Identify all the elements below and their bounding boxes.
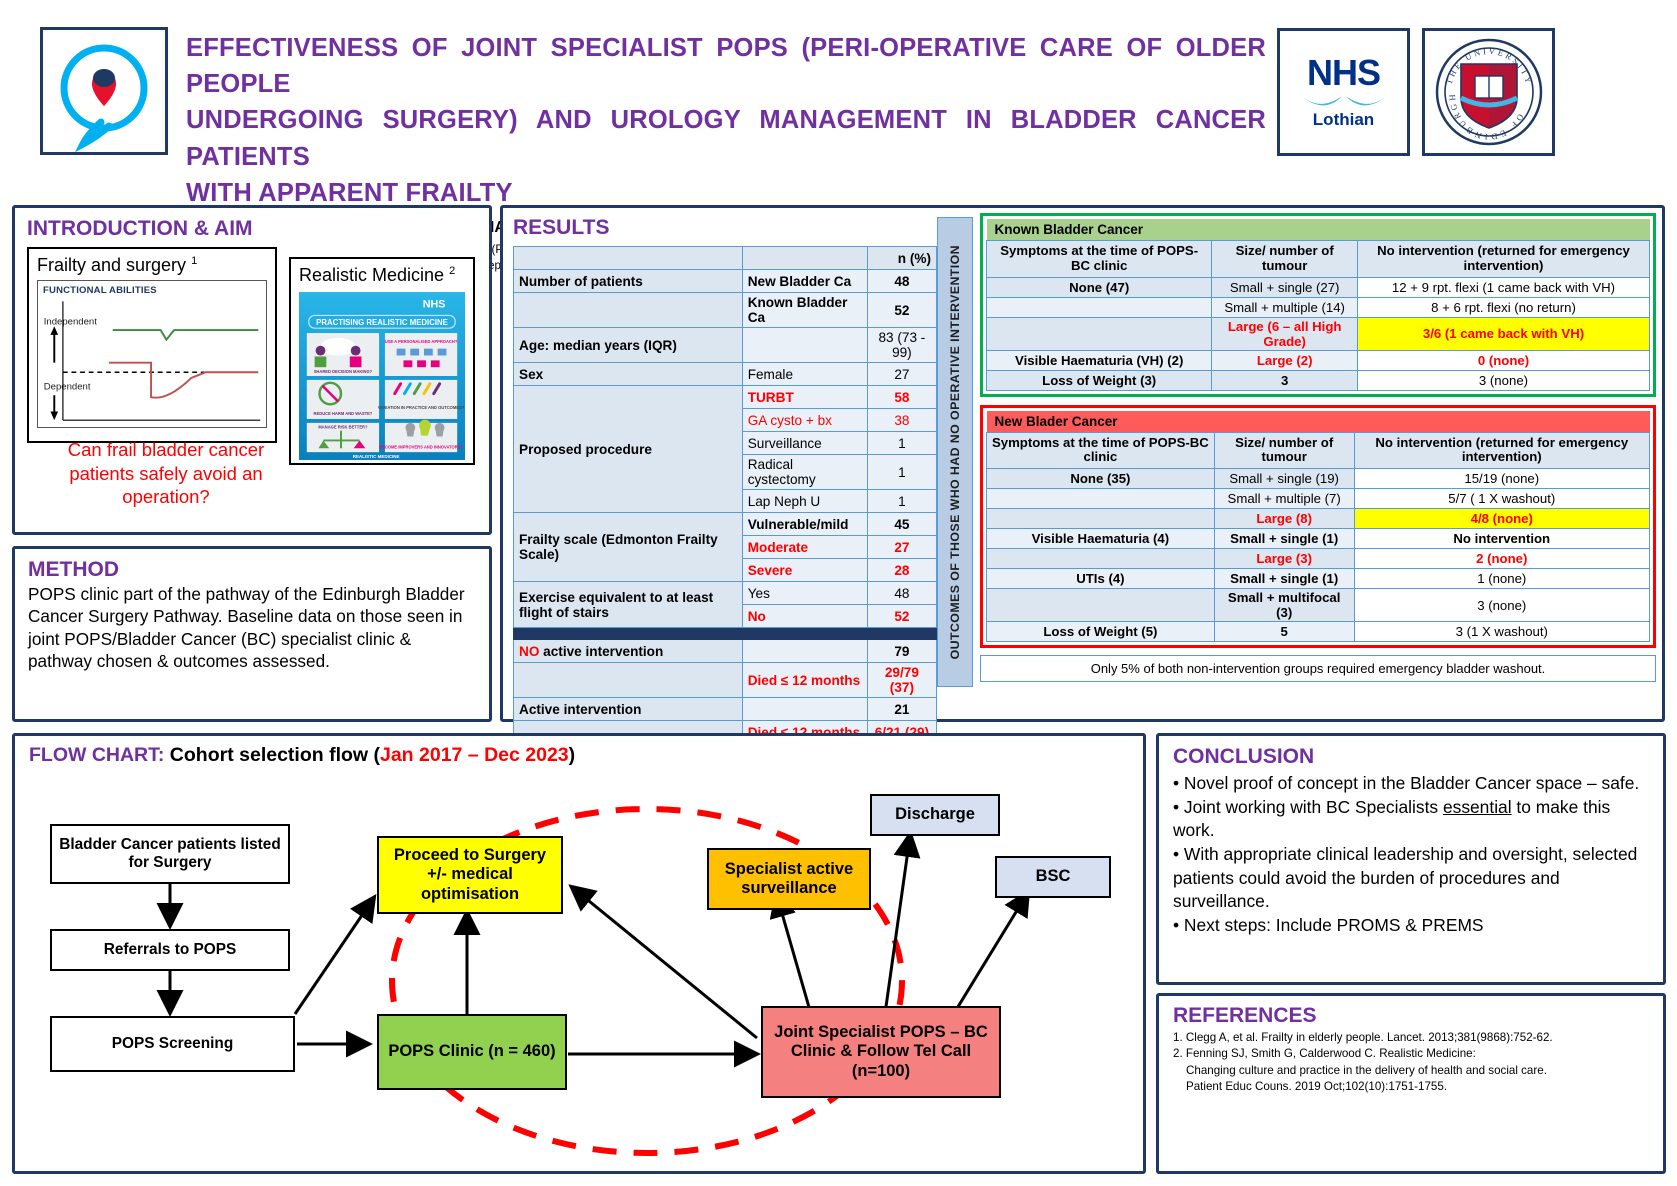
cell-outcome: 15/19 (none) [1354, 469, 1649, 489]
column-header: Symptoms at the time of POPS-BC clinic [987, 432, 1215, 469]
banner-label: New Blader Cancer [987, 411, 1650, 433]
table-row: Visible Haematuria (4)Small + single (1)… [987, 529, 1650, 549]
cell-subcategory: Yes [742, 582, 867, 605]
cell-blank [742, 247, 867, 270]
functional-abilities-title: FUNCTIONAL ABILITIES [43, 285, 157, 296]
cell-category: Exercise equivalent to at least flight o… [514, 582, 743, 628]
table-row: Small + multiple (14)8 + 6 rpt. flexi (n… [987, 297, 1650, 317]
page-title: EFFECTIVENESS OF JOINT SPECIALIST POPS (… [186, 30, 1266, 211]
cell-subcategory [742, 698, 867, 721]
column-header: Symptoms at the time of POPS-BC clinic [987, 241, 1212, 278]
svg-text:REDUCE HARM AND WASTE?: REDUCE HARM AND WASTE? [314, 411, 373, 416]
flow-chart-panel: FLOW CHART: Cohort selection flow (Jan 2… [12, 733, 1146, 1174]
column-header: No intervention (returned for emergency … [1354, 432, 1649, 469]
chart-top-label: Independent [44, 316, 98, 327]
nhs-logo-word: NHS [1307, 55, 1380, 91]
cell-value: 21 [867, 698, 936, 721]
table-header-row: Symptoms at the time of POPS-BC clinicSi… [987, 432, 1650, 469]
flow-box-label: BSC [1036, 867, 1071, 886]
known-bladder-cancer-table: Known Bladder CancerSymptoms at the time… [986, 219, 1650, 391]
cell-symptoms: Loss of Weight (5) [987, 622, 1215, 642]
nhs-logo-sub: Lothian [1313, 110, 1374, 130]
reference-item: Changing culture and practice in the del… [1173, 1063, 1649, 1079]
cell-symptoms: Visible Haematuria (VH) (2) [987, 350, 1212, 370]
table-row: Small + multiple (7)5/7 ( 1 X washout) [987, 489, 1650, 509]
outcomes-vertical-label: OUTCOMES OF THOSE WHO HAD NO OPERATIVE I… [937, 217, 973, 687]
cell-subcategory: Severe [742, 559, 867, 582]
cell-outcome: 3 (none) [1357, 370, 1649, 390]
svg-text:BECOME IMPROVERS AND INNOVATOR: BECOME IMPROVERS AND INNOVATORS? [379, 444, 463, 449]
conclusion-bullet: • Next steps: Include PROMS & PREMS [1173, 914, 1649, 937]
cell-subcategory: Surveillance [742, 432, 867, 455]
cell-size: Large (2) [1212, 350, 1358, 370]
flow-box-bsc[interactable]: BSC [995, 856, 1111, 898]
table-row: n (%) [514, 247, 937, 270]
cell-category: Active intervention [514, 698, 743, 721]
cell-subcategory: Vulnerable/mild [742, 513, 867, 536]
cell-value: 48 [867, 270, 936, 293]
flow-box-bladder-cancer-listed[interactable]: Bladder Cancer patients listed for Surge… [50, 824, 290, 884]
header-n: n (%) [867, 247, 936, 270]
cell-value: 52 [867, 293, 936, 328]
cell-value: 1 [867, 432, 936, 455]
conclusion-bullet: • Novel proof of concept in the Bladder … [1173, 772, 1649, 795]
functional-abilities-chart: FUNCTIONAL ABILITIES Independent Depende… [37, 280, 267, 428]
cell-size: Small + multifocal (3) [1214, 589, 1354, 622]
cell-subcategory [742, 640, 867, 663]
svg-text:SHARED DECISION MAKING?: SHARED DECISION MAKING? [314, 369, 373, 374]
cell-outcome: 3 (1 X washout) [1354, 622, 1649, 642]
table-row: Died ≤ 12 months29/79 (37) [514, 663, 937, 698]
conclusion-bullet: • Joint working with BC Specialists esse… [1173, 796, 1649, 842]
pops-logo-graphic [43, 30, 165, 152]
nhs-swoosh-icon [1296, 88, 1392, 108]
cell-size: Large (6 – all High Grade) [1212, 317, 1358, 350]
flow-box-label: Joint Specialist POPS – BC Clinic & Foll… [767, 1023, 995, 1081]
cell-outcome: 1 (none) [1354, 569, 1649, 589]
cell-size: 3 [1212, 370, 1358, 390]
cell-value: 29/79 (37) [867, 663, 936, 698]
column-header: No intervention (returned for emergency … [1357, 241, 1649, 278]
cell-category: NO active intervention [514, 640, 743, 663]
frailty-and-surgery-figure: Frailty and surgery 1 FUNCTIONAL ABILITI… [27, 247, 277, 443]
introduction-panel: INTRODUCTION & AIM Frailty and surgery 1… [12, 205, 492, 535]
cell-size: Large (8) [1214, 509, 1354, 529]
svg-text:USE A PERSONALISED APPROACH?: USE A PERSONALISED APPROACH? [385, 339, 458, 344]
table-row: Loss of Weight (5)53 (1 X washout) [987, 622, 1650, 642]
cell-subcategory: GA cysto + bx [742, 409, 867, 432]
svg-text:MANAGE RISK BETTER?: MANAGE RISK BETTER? [318, 425, 368, 430]
references-panel: REFERENCES 1. Clegg A, et al. Frailty in… [1156, 993, 1666, 1174]
reference-item: 2. Fenning SJ, Smith G, Calderwood C. Re… [1173, 1046, 1649, 1062]
column-header: Size/ number of tumour [1212, 241, 1358, 278]
realistic-medicine-ref: 2 [449, 265, 455, 277]
cell-outcome: 8 + 6 rpt. flexi (no return) [1357, 297, 1649, 317]
functional-abilities-plot: Independent Dependent [38, 281, 266, 429]
table-row: Frailty scale (Edmonton Frailty Scale)Vu… [514, 513, 937, 536]
cell-value: 79 [867, 640, 936, 663]
cell-subcategory: Moderate [742, 536, 867, 559]
cell-outcome: No intervention [1354, 529, 1649, 549]
cell-outcome: 3/6 (1 came back with VH) [1357, 317, 1649, 350]
cell-value: 38 [867, 409, 936, 432]
flow-chart-heading: FLOW CHART: Cohort selection flow (Jan 2… [29, 744, 1129, 767]
cell-outcome: 2 (none) [1354, 549, 1649, 569]
cell-category: Proposed procedure [514, 386, 743, 513]
cell-category: Sex [514, 363, 743, 386]
frailty-figure-caption-text: Frailty and surgery [37, 255, 186, 275]
table-row: Large (8)4/8 (none) [987, 509, 1650, 529]
cell-category: Frailty scale (Edmonton Frailty Scale) [514, 513, 743, 582]
cell-value: 27 [867, 363, 936, 386]
cell-outcome: 12 + 9 rpt. flexi (1 came back with VH) [1357, 277, 1649, 297]
cell-value: 52 [867, 605, 936, 628]
references-heading: REFERENCES [1173, 1004, 1649, 1028]
cell-symptoms: None (47) [987, 277, 1212, 297]
cell-subcategory: New Bladder Ca [742, 270, 867, 293]
cell-subcategory: TURBT [742, 386, 867, 409]
outcomes-tables: Known Bladder CancerSymptoms at the time… [980, 213, 1656, 682]
cell-subcategory: Female [742, 363, 867, 386]
cell-size: Small + single (1) [1214, 529, 1354, 549]
new-bladder-cancer-table-wrap: New Blader CancerSymptoms at the time of… [980, 405, 1656, 649]
cell-blank [514, 247, 743, 270]
cell-size: Small + single (19) [1214, 469, 1354, 489]
frailty-figure-ref: 1 [191, 255, 197, 267]
known-bladder-cancer-table-wrap: Known Bladder CancerSymptoms at the time… [980, 213, 1656, 397]
table-row: Small + multifocal (3)3 (none) [987, 589, 1650, 622]
cell-value: 45 [867, 513, 936, 536]
cell-value: 1 [867, 490, 936, 513]
realistic-medicine-figure: Realistic Medicine 2 NHS PRACTISING REAL… [289, 257, 475, 465]
cell-size: Small + single (27) [1212, 277, 1358, 297]
outcomes-vertical-label-text: OUTCOMES OF THOSE WHO HAD NO OPERATIVE I… [948, 245, 962, 659]
cell-symptoms: None (35) [987, 469, 1215, 489]
table-row: Age: median years (IQR)83 (73 - 99) [514, 328, 937, 363]
cell-subcategory: Died ≤ 12 months [742, 663, 867, 698]
flow-box-label: Bladder Cancer patients listed for Surge… [56, 836, 284, 872]
table-row: None (35)Small + single (19)15/19 (none) [987, 469, 1650, 489]
realistic-medicine-caption-text: Realistic Medicine [299, 265, 444, 285]
flow-heading-close: ) [569, 744, 576, 766]
cell-symptoms [987, 549, 1215, 569]
table-row: Active intervention21 [514, 698, 937, 721]
cell-size: 5 [1214, 622, 1354, 642]
cell-size: Small + multiple (14) [1212, 297, 1358, 317]
title-line-2: UNDERGOING SURGERY) AND UROLOGY MANAGEME… [186, 102, 1266, 174]
poster-header: EFFECTIVENESS OF JOINT SPECIALIST POPS (… [0, 0, 1677, 200]
flow-heading-daterange: Jan 2017 – Dec 2023 [380, 744, 569, 766]
conclusion-panel: CONCLUSION • Novel proof of concept in t… [1156, 733, 1666, 985]
reference-item: 1. Clegg A, et al. Frailty in elderly pe… [1173, 1030, 1649, 1046]
cell-outcome: 0 (none) [1357, 350, 1649, 370]
cell-value: 83 (73 - 99) [867, 328, 936, 363]
flow-box-joint-specialist-clinic[interactable]: Joint Specialist POPS – BC Clinic & Foll… [761, 1006, 1001, 1098]
table-row: Number of patientsNew Bladder Ca48 [514, 270, 937, 293]
cell-category [514, 663, 743, 698]
cell-symptoms [987, 317, 1212, 350]
cell-category: Age: median years (IQR) [514, 328, 743, 363]
cell-category [514, 293, 743, 328]
table-row: Loss of Weight (3)33 (none) [987, 370, 1650, 390]
cell-outcome: 4/8 (none) [1354, 509, 1649, 529]
conclusion-bullet: • With appropriate clinical leadership a… [1173, 843, 1649, 912]
table-separator [514, 628, 937, 640]
table-row: Exercise equivalent to at least flight o… [514, 582, 937, 605]
method-text: POPS clinic part of the pathway of the E… [28, 583, 476, 672]
aim-question: Can frail bladder cancer patients safely… [37, 438, 295, 509]
cell-symptoms: UTIs (4) [987, 569, 1215, 589]
flow-box-label: Proceed to Surgery +/- medical optimisat… [383, 846, 557, 904]
cell-value: 1 [867, 455, 936, 490]
svg-text:NHS: NHS [423, 299, 446, 311]
realistic-medicine-poster-image: NHS PRACTISING REALISTIC MEDICINE SHARED… [299, 290, 465, 462]
chart-bottom-label: Dependent [44, 381, 91, 392]
table-row: None (47)Small + single (27)12 + 9 rpt. … [987, 277, 1650, 297]
flow-box-label: POPS Clinic (n = 460) [388, 1042, 555, 1061]
cell-size: Small + multiple (7) [1214, 489, 1354, 509]
cell-value: 28 [867, 559, 936, 582]
references-list: 1. Clegg A, et al. Frailty in elderly pe… [1173, 1030, 1649, 1096]
cell-outcome: 3 (none) [1354, 589, 1649, 622]
table-header-row: Symptoms at the time of POPS-BC clinicSi… [987, 241, 1650, 278]
table-row: UTIs (4)Small + single (1)1 (none) [987, 569, 1650, 589]
flow-heading-label: FLOW CHART: [29, 744, 164, 766]
nhs-lothian-logo: NHS Lothian [1277, 28, 1410, 156]
flow-box-proceed-to-surgery[interactable]: Proceed to Surgery +/- medical optimisat… [377, 836, 563, 914]
new-bladder-cancer-table: New Blader CancerSymptoms at the time of… [986, 411, 1650, 643]
banner-label: Known Bladder Cancer [987, 219, 1650, 241]
cell-symptoms [987, 589, 1215, 622]
cell-subcategory: Known Bladder Ca [742, 293, 867, 328]
cell-value: 48 [867, 582, 936, 605]
cell-category: Number of patients [514, 270, 743, 293]
pops-logo [40, 27, 168, 155]
flow-heading-sub: Cohort selection flow ( [164, 744, 380, 766]
flow-box-discharge[interactable]: Discharge [870, 794, 1000, 836]
flow-box-pops-screening[interactable]: POPS Screening [50, 1016, 295, 1072]
outcomes-note: Only 5% of both non-intervention groups … [980, 655, 1656, 682]
table-banner: New Blader Cancer [987, 411, 1650, 433]
realistic-medicine-caption: Realistic Medicine 2 [299, 265, 465, 286]
cell-size: Small + single (1) [1214, 569, 1354, 589]
flow-box-label: POPS Screening [112, 1035, 233, 1053]
svg-text:PRACTISING REALISTIC MEDICINE: PRACTISING REALISTIC MEDICINE [316, 318, 448, 327]
table-banner: Known Bladder Cancer [987, 219, 1650, 241]
flow-box-label: Referrals to POPS [104, 941, 237, 959]
reference-item: Patient Educ Couns. 2019 Oct;102(10):175… [1173, 1079, 1649, 1095]
cell-outcome: 5/7 ( 1 X washout) [1354, 489, 1649, 509]
svg-text:REALISTIC MEDICINE: REALISTIC MEDICINE [353, 454, 400, 459]
column-header: Size/ number of tumour [1214, 432, 1354, 469]
cell-subcategory [742, 328, 867, 363]
method-heading: METHOD [28, 558, 476, 582]
table-row: Visible Haematuria (VH) (2)Large (2)0 (n… [987, 350, 1650, 370]
university-of-edinburgh-logo: THE UNIVERSITY OF EDINBURGH [1422, 28, 1555, 156]
conclusion-heading: CONCLUSION [1173, 745, 1649, 769]
uoe-crest-icon: THE UNIVERSITY OF EDINBURGH [1433, 36, 1545, 148]
results-main-table: n (%)Number of patientsNew Bladder Ca48K… [513, 246, 937, 744]
cell-symptoms [987, 489, 1215, 509]
cell-symptoms [987, 509, 1215, 529]
table-row: Large (6 – all High Grade)3/6 (1 came ba… [987, 317, 1650, 350]
table-row: Proposed procedureTURBT58 [514, 386, 937, 409]
frailty-figure-caption: Frailty and surgery 1 [37, 255, 267, 276]
flow-box-label: Discharge [895, 805, 975, 824]
introduction-heading: INTRODUCTION & AIM [27, 217, 477, 241]
cell-symptoms: Loss of Weight (3) [987, 370, 1212, 390]
cell-symptoms [987, 297, 1212, 317]
table-row: NO active intervention79 [514, 640, 937, 663]
flow-box-pops-clinic[interactable]: POPS Clinic (n = 460) [377, 1014, 567, 1090]
cell-subcategory: Radical cystectomy [742, 455, 867, 490]
table-row: SexFemale27 [514, 363, 937, 386]
cell-value: 27 [867, 536, 936, 559]
cell-size: Large (3) [1214, 549, 1354, 569]
method-panel: METHOD POPS clinic part of the pathway o… [12, 546, 492, 722]
cell-symptoms: Visible Haematuria (4) [987, 529, 1215, 549]
flow-chart-canvas: Bladder Cancer patients listed for Surge… [15, 766, 1143, 1174]
cell-subcategory: No [742, 605, 867, 628]
flow-box-specialist-active-surveillance[interactable]: Specialist active surveillance [707, 848, 871, 910]
cell-subcategory: Lap Neph U [742, 490, 867, 513]
cell-value: 58 [867, 386, 936, 409]
svg-text:VARIATION IN PRACTICE AND OUTC: VARIATION IN PRACTICE AND OUTCOMES? [378, 405, 465, 410]
table-row: Large (3)2 (none) [987, 549, 1650, 569]
conclusion-bullets: • Novel proof of concept in the Bladder … [1173, 772, 1649, 937]
flow-box-referrals-to-pops[interactable]: Referrals to POPS [50, 929, 290, 971]
table-row: Known Bladder Ca52 [514, 293, 937, 328]
title-line-1: EFFECTIVENESS OF JOINT SPECIALIST POPS (… [186, 30, 1266, 102]
flow-box-label: Specialist active surveillance [713, 860, 865, 899]
